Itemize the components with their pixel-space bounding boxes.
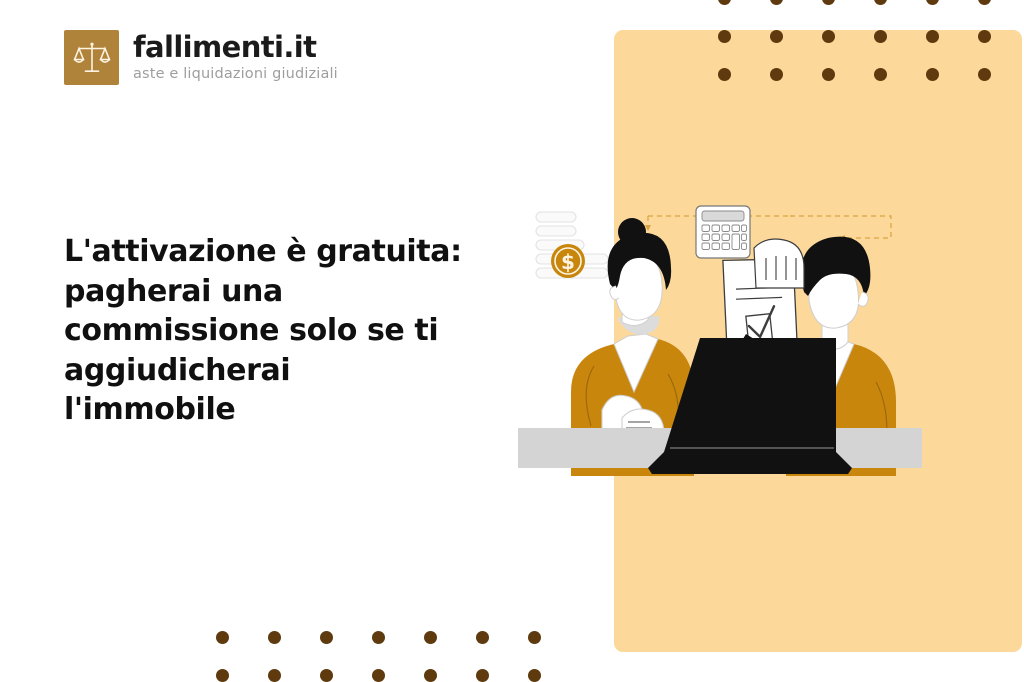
- headline-text: L'attivazione è gratuita: pagherai una c…: [64, 232, 464, 430]
- poster-canvas: fallimenti.it aste e liquidazioni giudiz…: [0, 0, 1024, 682]
- decorative-dot: [528, 631, 541, 644]
- decorative-dot: [372, 669, 385, 682]
- decorative-dot: [320, 631, 333, 644]
- decorative-dot: [770, 0, 783, 5]
- decorative-dot: [424, 669, 437, 682]
- illustration-two-people-signing-contract: $: [518, 196, 922, 476]
- decorative-dot: [476, 631, 489, 644]
- decorative-dot: [926, 0, 939, 5]
- decorative-dot: [216, 669, 229, 682]
- decorative-dot: [978, 0, 991, 5]
- decorative-dot: [874, 0, 887, 5]
- decorative-dot: [528, 669, 541, 682]
- decorative-dot: [718, 0, 731, 5]
- decorative-dot: [268, 631, 281, 644]
- brand-tagline: aste e liquidazioni giudiziali: [133, 67, 338, 82]
- brand-logo[interactable]: fallimenti.it aste e liquidazioni giudiz…: [64, 30, 338, 85]
- decorative-dot: [216, 631, 229, 644]
- scales-of-justice-icon: [64, 30, 119, 85]
- decorative-dot: [372, 631, 385, 644]
- brand-name: fallimenti.it: [133, 33, 338, 62]
- decorative-dot: [424, 631, 437, 644]
- decorative-dot: [476, 669, 489, 682]
- decorative-dot: [320, 669, 333, 682]
- decorative-dot: [822, 0, 835, 5]
- svg-text:$: $: [561, 250, 575, 274]
- decorative-dot: [268, 669, 281, 682]
- dot-grid-bottom-left: [216, 631, 580, 682]
